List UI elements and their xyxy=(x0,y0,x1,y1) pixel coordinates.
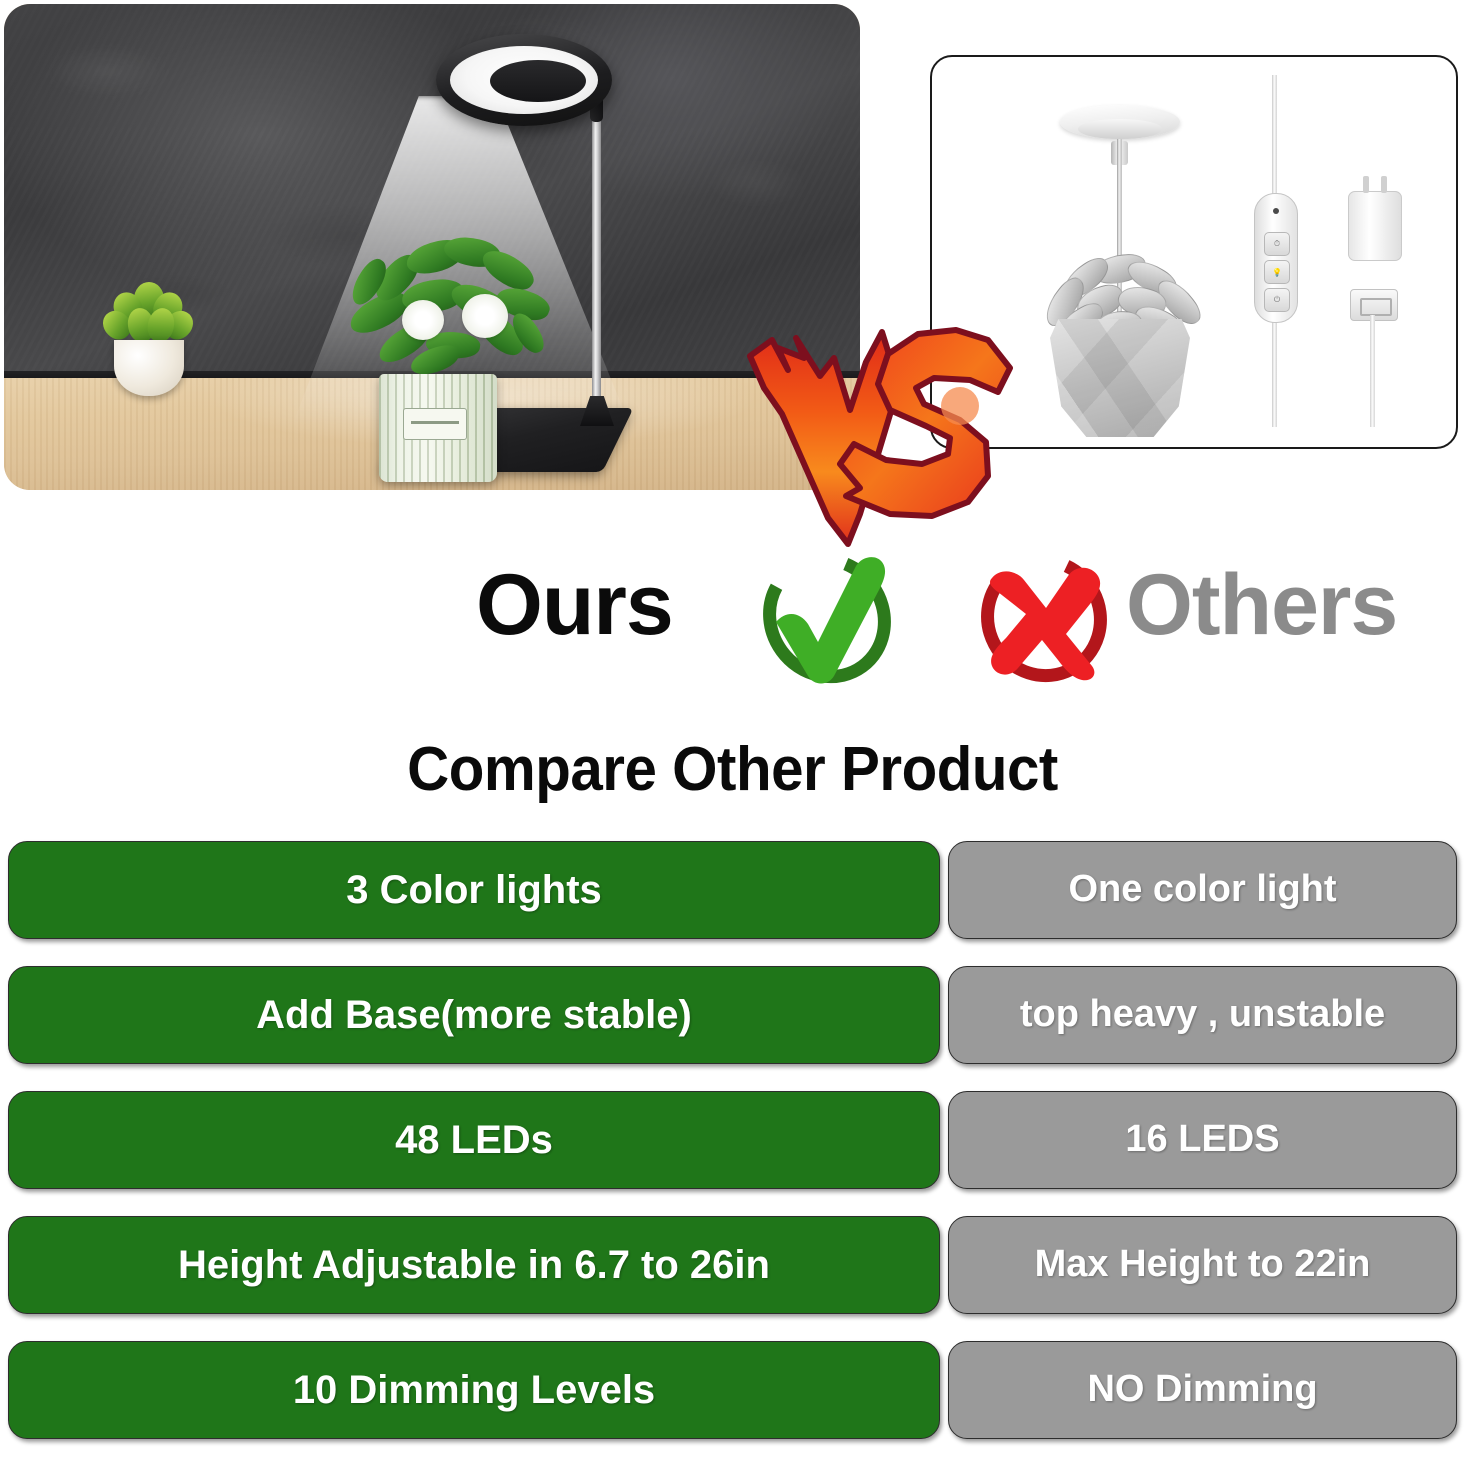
red-x-icon xyxy=(972,554,1122,684)
ours-feature-cell: 48 LEDs xyxy=(8,1091,940,1189)
table-row: 3 Color lights One color light xyxy=(0,841,1465,939)
comparison-table: 3 Color lights One color light Add Base(… xyxy=(0,841,1465,1466)
green-check-icon xyxy=(752,550,902,686)
timer-button-icon: ⏱ xyxy=(1264,232,1290,256)
ours-label: Ours xyxy=(476,562,673,648)
ours-feature-cell: 3 Color lights xyxy=(8,841,940,939)
flower-bloom xyxy=(402,300,444,340)
plant-pot-large xyxy=(379,374,497,482)
competitor-concrete-pot xyxy=(1050,319,1190,437)
ours-feature-cell: Height Adjustable in 6.7 to 26in xyxy=(8,1216,940,1314)
flower-bloom xyxy=(462,294,508,338)
vs-badge xyxy=(742,318,1022,574)
ring-light-panel xyxy=(450,46,598,114)
table-row: Add Base(more stable) top heavy , unstab… xyxy=(0,966,1465,1064)
table-row: 10 Dimming Levels NO Dimming xyxy=(0,1341,1465,1439)
controller-led-indicator xyxy=(1273,208,1279,214)
brightness-button-icon: 💡 xyxy=(1264,260,1290,284)
ring-light-head xyxy=(436,34,612,126)
ours-vs-others-row: Ours Others xyxy=(0,548,1465,688)
page-title: Compare Other Product xyxy=(44,734,1421,805)
flowering-plant-foliage xyxy=(340,236,552,388)
plug-prong xyxy=(1363,176,1369,193)
ours-feature-cell: 10 Dimming Levels xyxy=(8,1341,940,1439)
others-feature-cell: Max Height to 22in xyxy=(948,1216,1457,1314)
competitor-usb-wall-adapter xyxy=(1348,191,1402,261)
table-row: Height Adjustable in 6.7 to 26in Max Hei… xyxy=(0,1216,1465,1314)
pot-label xyxy=(403,408,467,440)
power-button-icon: ⏻ xyxy=(1264,288,1290,312)
table-row: 48 LEDs 16 LEDS xyxy=(0,1091,1465,1189)
plug-prong xyxy=(1381,176,1387,193)
ring-light-center-hole xyxy=(490,60,586,102)
pot-facets xyxy=(1050,319,1190,437)
small-plant-pot xyxy=(114,340,184,396)
others-feature-cell: top heavy , unstable xyxy=(948,966,1457,1064)
ours-feature-cell: Add Base(more stable) xyxy=(8,966,940,1064)
lamp-pole xyxy=(592,116,601,406)
others-label: Others xyxy=(1126,562,1397,648)
competitor-usb-cable xyxy=(1370,315,1375,427)
competitor-inline-controller: ⏱ 💡 ⏻ xyxy=(1254,193,1298,323)
others-feature-cell: One color light xyxy=(948,841,1457,939)
others-feature-cell: 16 LEDS xyxy=(948,1091,1457,1189)
ours-product-photo xyxy=(4,4,860,490)
product-photo-comparison: ⏱ 💡 ⏻ xyxy=(0,0,1465,520)
others-feature-cell: NO Dimming xyxy=(948,1341,1457,1439)
competitor-light-panel xyxy=(1078,119,1162,139)
infographic-canvas: ⏱ 💡 ⏻ xyxy=(0,0,1465,1465)
